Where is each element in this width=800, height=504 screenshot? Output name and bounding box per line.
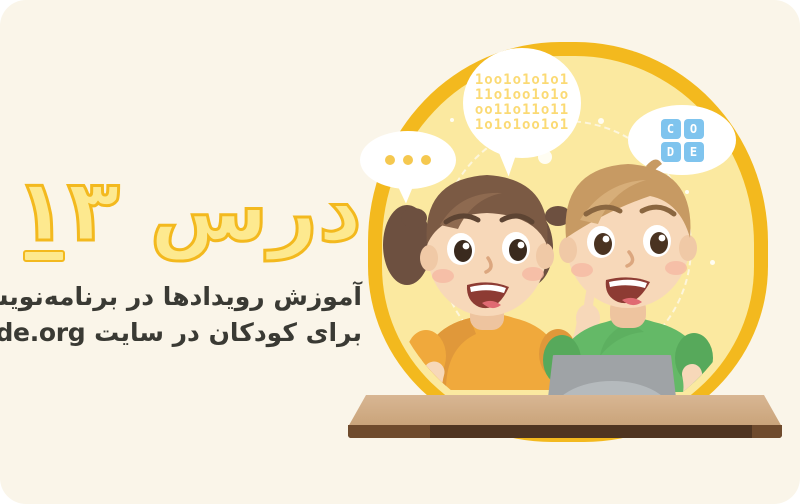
lesson-banner: 1oo1o1o1o1 11o1oo1o1o oo11o11o11 1o1o1oo…: [0, 0, 800, 504]
text-block: درس ۱۳ آموزش رویدادها در برنامه‌نویسی بر…: [0, 0, 380, 504]
subtitle-line-1: آموزش رویدادها در برنامه‌نویسی: [0, 282, 362, 311]
desk: [348, 395, 782, 445]
illustration-scene: 1oo1o1o1o1 11o1oo1o1o oo11o11o11 1o1o1oo…: [330, 0, 800, 504]
desk-top-surface: [348, 395, 782, 427]
lesson-title: درس ۱۳: [15, 168, 362, 254]
subtitle-line-2: برای کودکان در سایت Code.org: [0, 318, 362, 347]
desk-edge-right-highlight: [752, 425, 782, 438]
title-underline: [23, 250, 65, 262]
